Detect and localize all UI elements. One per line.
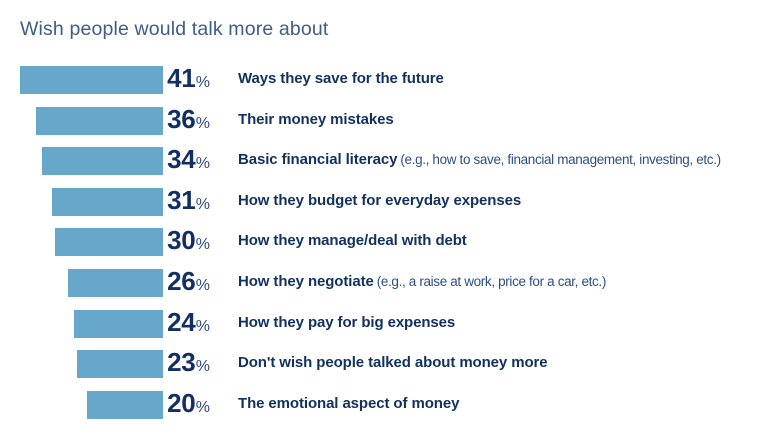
chart-container: Wish people would talk more about 41%Way… <box>0 0 768 442</box>
bar-track <box>0 222 163 263</box>
bar-label: How they manage/deal with debt <box>238 232 766 250</box>
bar-label-main: How they pay for big expenses <box>238 314 455 331</box>
bar-value-number: 20 <box>167 388 195 418</box>
bar-track <box>0 304 163 345</box>
bar-value: 26% <box>163 266 210 297</box>
bar-value: 23% <box>163 347 210 378</box>
bar-label-main: How they manage/deal with debt <box>238 232 467 249</box>
bar-value-percent-sign: % <box>196 318 210 335</box>
bar-label: Don't wish people talked about money mor… <box>238 354 766 372</box>
bar-label-main: Basic financial literacy <box>238 151 397 168</box>
bar <box>52 188 163 216</box>
bar-label-main: How they budget for everyday expenses <box>238 192 521 209</box>
bar-value-number: 34 <box>167 144 195 174</box>
bar <box>87 391 163 419</box>
bar-value-percent-sign: % <box>196 115 210 132</box>
bar-track <box>0 182 163 223</box>
page-title: Wish people would talk more about <box>20 18 328 41</box>
bar-value: 30% <box>163 225 210 256</box>
bar <box>68 269 163 297</box>
chart-row: 23%Don't wish people talked about money … <box>0 344 768 385</box>
bar-value: 41% <box>163 63 210 94</box>
bar-label-main: Their money mistakes <box>238 111 394 128</box>
bar-track <box>0 101 163 142</box>
bar-value-number: 30 <box>167 225 195 255</box>
chart-row: 34%Basic financial literacy(e.g., how to… <box>0 141 768 182</box>
bar-value: 31% <box>163 185 210 216</box>
chart-row: 24%How they pay for big expenses <box>0 304 768 345</box>
chart-row: 20%The emotional aspect of money <box>0 385 768 426</box>
bar <box>36 107 163 135</box>
bar-label-main: Don't wish people talked about money mor… <box>238 354 548 371</box>
bar-label-note: (e.g., how to save, financial management… <box>400 152 720 167</box>
bar <box>74 310 163 338</box>
bar-track <box>0 141 163 182</box>
chart-row: 41%Ways they save for the future <box>0 60 768 101</box>
bar-label: How they budget for everyday expenses <box>238 192 766 210</box>
bar-value-percent-sign: % <box>196 74 210 91</box>
bar-chart-rows: 41%Ways they save for the future36%Their… <box>0 60 768 425</box>
bar <box>42 147 163 175</box>
bar-value-number: 36 <box>167 104 195 134</box>
bar <box>20 66 163 94</box>
chart-row: 36%Their money mistakes <box>0 101 768 142</box>
bar-value-percent-sign: % <box>196 196 210 213</box>
bar-value-percent-sign: % <box>196 399 210 416</box>
bar-label: How they pay for big expenses <box>238 314 766 332</box>
bar-value-percent-sign: % <box>196 155 210 172</box>
bar-value: 34% <box>163 144 210 175</box>
bar-label-main: Ways they save for the future <box>238 70 444 87</box>
bar-label-main: How they negotiate <box>238 273 374 290</box>
bar-value-number: 24 <box>167 307 195 337</box>
chart-row: 31%How they budget for everyday expenses <box>0 182 768 223</box>
bar-value-percent-sign: % <box>196 358 210 375</box>
bar-value: 20% <box>163 388 210 419</box>
bar-label-note: (e.g., a raise at work, price for a car,… <box>377 274 606 289</box>
bar-value: 24% <box>163 307 210 338</box>
bar-label: Ways they save for the future <box>238 70 766 88</box>
bar-label: The emotional aspect of money <box>238 395 766 413</box>
bar-label: Their money mistakes <box>238 111 766 129</box>
bar-value-number: 26 <box>167 266 195 296</box>
chart-row: 30%How they manage/deal with debt <box>0 222 768 263</box>
bar-value-number: 31 <box>167 185 195 215</box>
bar-label-main: The emotional aspect of money <box>238 395 459 412</box>
bar-value-percent-sign: % <box>196 236 210 253</box>
bar-label: Basic financial literacy(e.g., how to sa… <box>238 151 766 169</box>
bar-label: How they negotiate(e.g., a raise at work… <box>238 273 766 291</box>
bar <box>77 350 163 378</box>
bar-value-number: 23 <box>167 347 195 377</box>
bar-value: 36% <box>163 104 210 135</box>
chart-row: 26%How they negotiate(e.g., a raise at w… <box>0 263 768 304</box>
bar-track <box>0 263 163 304</box>
bar-track <box>0 60 163 101</box>
bar-value-percent-sign: % <box>196 277 210 294</box>
bar-track <box>0 385 163 426</box>
bar-value-number: 41 <box>167 63 195 93</box>
bar <box>55 228 163 256</box>
bar-track <box>0 344 163 385</box>
